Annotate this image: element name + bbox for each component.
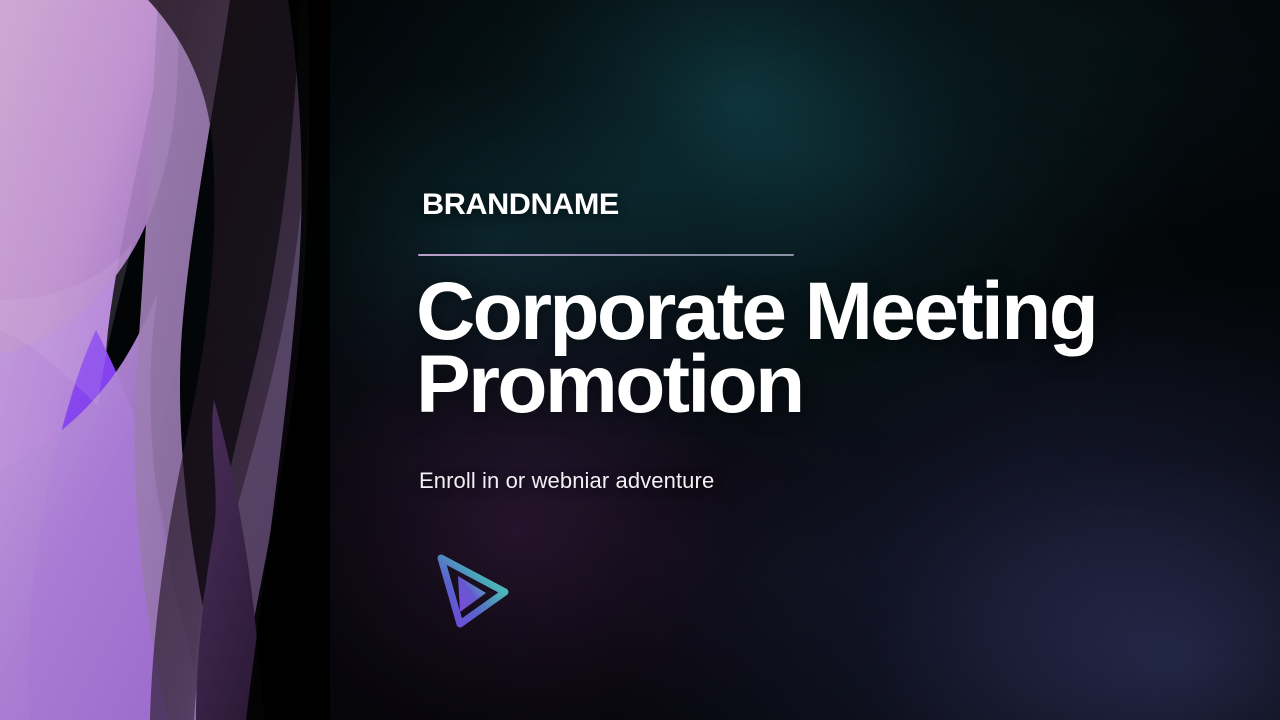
divider-rule [418,254,794,256]
promo-slide: BRANDNAME Corporate Meeting Promotion En… [0,0,1280,720]
decorative-ribbon-artwork [0,0,330,720]
headline-line-2: Promotion [416,349,1206,422]
brand-name: BRANDNAME [422,190,619,220]
play-triangle-logo-icon[interactable] [430,552,514,630]
subtitle-text: Enroll in or webniar adventure [419,468,714,494]
slide-content: BRANDNAME Corporate Meeting Promotion En… [418,0,1218,720]
page-title: Corporate Meeting Promotion [416,276,1206,422]
